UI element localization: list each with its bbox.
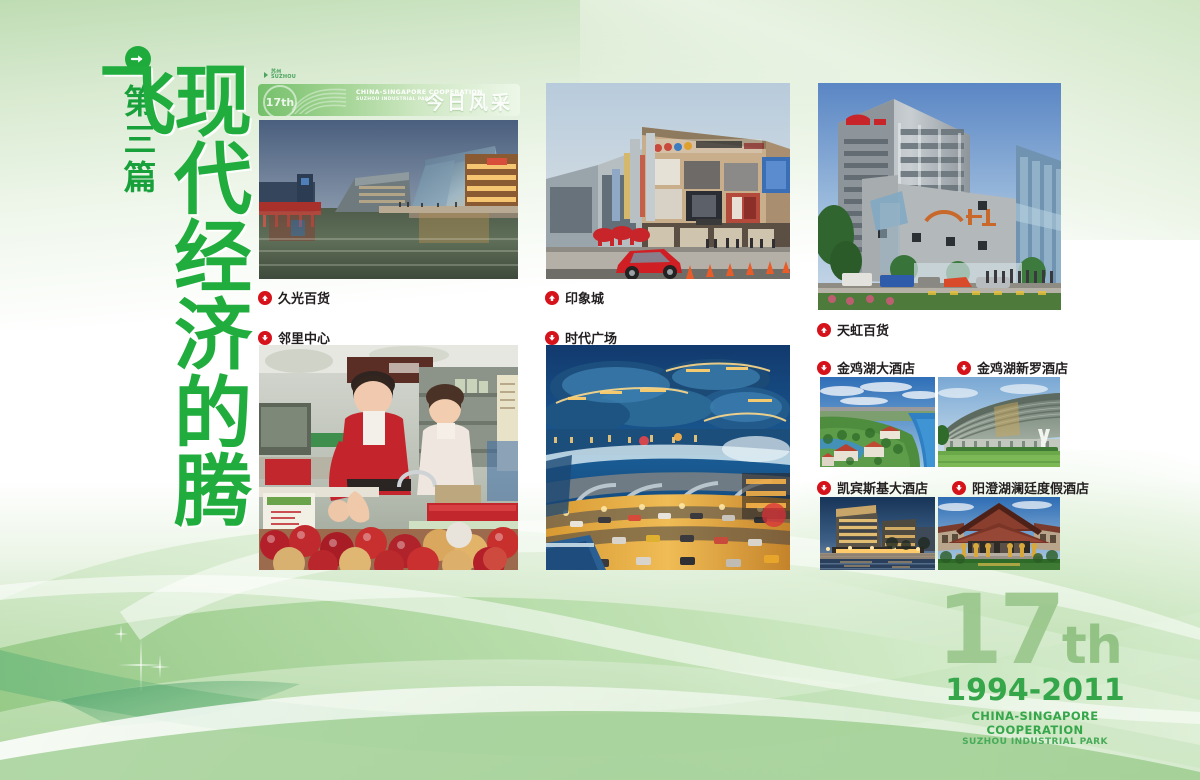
caption-kaibinsiji-label: 凯宾斯基大酒店 — [837, 478, 928, 497]
arrow-up-circle-icon — [545, 291, 559, 305]
photo-jiuguang-image — [259, 120, 518, 279]
photo-yangchenghu-lanting-image — [938, 497, 1060, 570]
photo-yinxiangcheng-image — [546, 83, 790, 279]
arrow-down-circle-icon — [957, 361, 971, 375]
photo-yangchenghu-lanting[interactable] — [938, 497, 1060, 570]
anniversary-emblem: 17th 1994-2011 CHINA-SINGAPORE COOPERATI… — [925, 590, 1145, 740]
chapter-title-block: 第三篇 现代经济的腾飞 — [114, 46, 242, 566]
poster-page: 第三篇 现代经济的腾飞 苏州 SUZHOU 17th — [0, 0, 1200, 780]
emblem-number: 17 — [936, 574, 1062, 686]
photo-shidaiguangchang-image — [546, 345, 790, 570]
ribbon-eyebrow-en: SUZHOU — [271, 74, 296, 80]
ribbon-chinese: 今日风采 — [425, 88, 513, 115]
caption-yinxiangcheng: 印象城 — [545, 288, 604, 307]
section-header-ribbon: 苏州 SUZHOU 17th CHINA-SINGAPORE COOPERATI… — [258, 72, 520, 116]
photo-jinjihu-xinluo[interactable] — [938, 377, 1060, 467]
photo-tianhong[interactable] — [818, 83, 1061, 310]
photo-tianhong-image — [818, 83, 1061, 310]
caption-jinjihu-dajiudian: 金鸡湖大酒店 — [817, 358, 915, 377]
photo-kaibinsiji-image — [820, 497, 935, 570]
photo-yinxiangcheng[interactable] — [546, 83, 790, 279]
emblem-cooperation: CHINA-SINGAPORE COOPERATION — [925, 709, 1145, 737]
page-title: 现代经济的腾飞 — [152, 60, 244, 566]
ribbon-stripes-icon — [292, 86, 346, 114]
arrow-down-circle-icon — [817, 481, 831, 495]
emblem-number-block: 17th — [919, 590, 1139, 671]
caption-yangchenghu-lanting-label: 阳澄湖澜廷度假酒店 — [972, 478, 1089, 497]
photo-shidaiguangchang[interactable] — [546, 345, 790, 570]
arrow-down-circle-icon — [258, 331, 272, 345]
caption-kaibinsiji: 凯宾斯基大酒店 — [817, 478, 928, 497]
arrow-down-circle-icon — [545, 331, 559, 345]
photo-linlizhongxin[interactable] — [259, 345, 518, 570]
triangle-icon — [264, 72, 268, 78]
photo-jinjihu-dajiudian[interactable] — [820, 377, 935, 467]
photo-jiuguang[interactable] — [259, 120, 518, 279]
arrow-up-circle-icon — [817, 323, 831, 337]
caption-jinjihu-xinluo-label: 金鸡湖新罗酒店 — [977, 358, 1068, 377]
arrow-down-circle-icon — [952, 481, 966, 495]
caption-jinjihu-dajiudian-label: 金鸡湖大酒店 — [837, 358, 915, 377]
emblem-park: SUZHOU INDUSTRIAL PARK — [925, 737, 1145, 747]
caption-jiuguang-label: 久光百货 — [278, 288, 330, 307]
photo-jinjihu-dajiudian-image — [820, 377, 935, 467]
photo-linlizhongxin-image — [259, 345, 518, 570]
caption-jiuguang: 久光百货 — [258, 288, 330, 307]
photo-kaibinsiji[interactable] — [820, 497, 935, 570]
caption-tianhong-label: 天虹百货 — [837, 320, 889, 339]
emblem-ordinal: th — [1062, 616, 1122, 676]
ribbon-bar: 17th CHINA-SINGAPORE COOPERATION SUZHOU … — [258, 84, 520, 116]
caption-yangchenghu-lanting: 阳澄湖澜廷度假酒店 — [952, 478, 1089, 497]
caption-jinjihu-xinluo: 金鸡湖新罗酒店 — [957, 358, 1068, 377]
arrow-down-circle-icon — [817, 361, 831, 375]
ribbon-eyebrow: 苏州 SUZHOU — [264, 70, 296, 81]
caption-yinxiangcheng-label: 印象城 — [565, 288, 604, 307]
photo-jinjihu-xinluo-image — [938, 377, 1060, 467]
caption-tianhong: 天虹百货 — [817, 320, 889, 339]
arrow-up-circle-icon — [258, 291, 272, 305]
